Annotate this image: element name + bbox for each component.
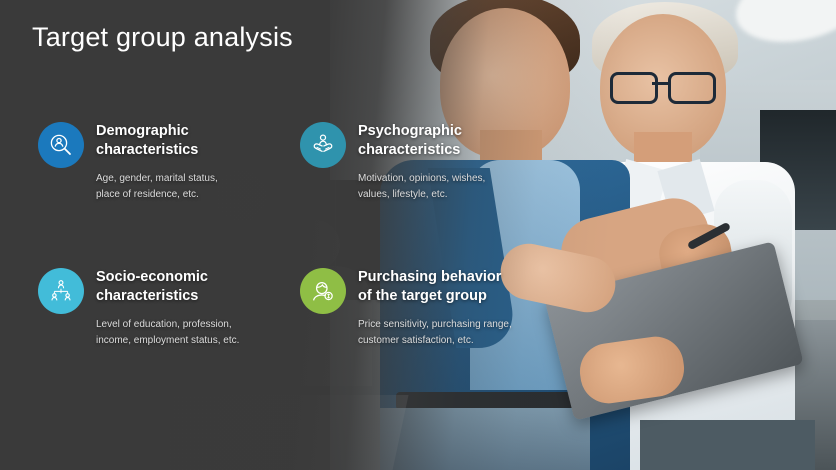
card-demographic[interactable]: Demographic characteristics Age, gender,…: [38, 122, 338, 202]
card-heading: Purchasing behavior of the target group: [358, 268, 600, 306]
card-socio-economic[interactable]: Socio-economic characteristics Level of …: [38, 268, 338, 348]
page-title: Target group analysis: [32, 22, 293, 53]
card-body: Motivation, opinions, wishes, values, li…: [358, 171, 600, 202]
card-psychographic[interactable]: Psychographic characteristics Motivation…: [300, 122, 600, 202]
people-hierarchy-icon[interactable]: [38, 268, 84, 314]
card-purchasing-behavior[interactable]: Purchasing behavior of the target group …: [300, 268, 600, 348]
card-heading: Psychographic characteristics: [358, 122, 600, 160]
card-body: Price sensitivity, purchasing range, cus…: [358, 317, 600, 348]
person-magnifier-icon[interactable]: [38, 122, 84, 168]
person-shopping-badge-icon[interactable]: [300, 268, 346, 314]
person-caring-hands-icon[interactable]: [300, 122, 346, 168]
slide: Target group analysis Demographic charac…: [0, 0, 836, 470]
slide-content: Target group analysis Demographic charac…: [0, 0, 836, 470]
